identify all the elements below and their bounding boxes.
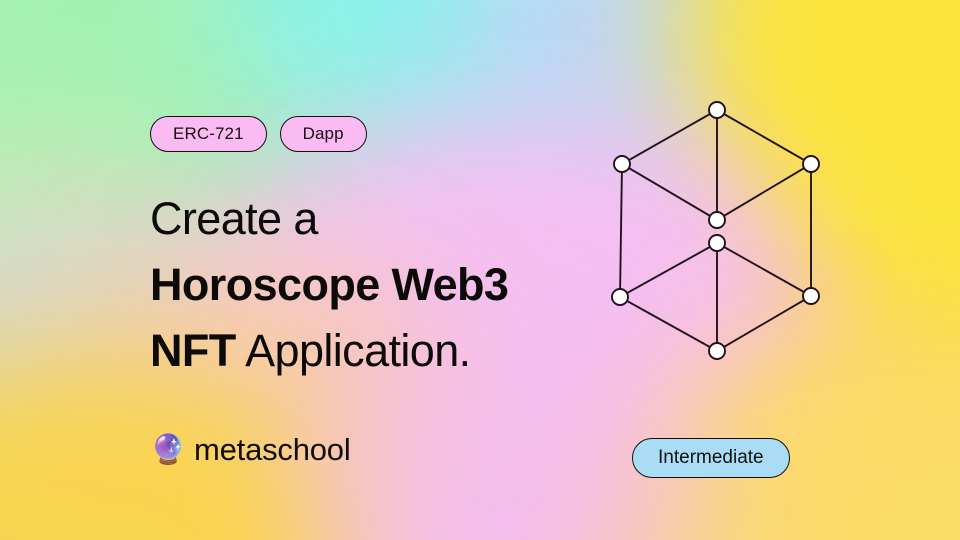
cube-edge (620, 164, 622, 297)
cube-node-center-lower (709, 235, 725, 251)
cube-node-top (709, 102, 725, 118)
cube-edge (620, 297, 717, 351)
status-badge-difficulty[interactable]: Intermediate (632, 438, 790, 478)
tag-label: Dapp (303, 124, 344, 144)
isometric-cube-icon (580, 80, 880, 380)
cube-edge (717, 110, 811, 164)
brand-name: metaschool (194, 432, 351, 468)
brand-logo[interactable]: 🔮 metaschool (150, 432, 351, 468)
cube-edge (717, 296, 811, 351)
tag-label: ERC-721 (173, 124, 244, 144)
cube-edge (620, 243, 717, 297)
cube-node-upper-left (614, 156, 630, 172)
cube-edge (622, 164, 717, 220)
cube-node-lower-left (612, 289, 628, 305)
cube-node-bottom (709, 343, 725, 359)
cube-node-center-upper (709, 212, 725, 228)
title-line-2-text: Horoscope Web3 (150, 259, 508, 310)
title-line-3-light: Application. (236, 325, 471, 376)
tag-erc-721[interactable]: ERC-721 (150, 116, 267, 152)
cube-node-upper-right (803, 156, 819, 172)
cube-edge (717, 243, 811, 296)
crystal-ball-icon: 🔮 (150, 434, 183, 467)
title-line-1-text: Create a (150, 193, 318, 244)
tag-dapp[interactable]: Dapp (280, 116, 367, 152)
cube-graphic (580, 80, 880, 380)
course-banner-card: ERC-721 Dapp Create a Horoscope Web3 NFT… (0, 0, 960, 540)
difficulty-label: Intermediate (658, 447, 764, 469)
tag-list: ERC-721 Dapp (150, 116, 367, 152)
cube-edge (622, 110, 717, 164)
cube-node-lower-right (803, 288, 819, 304)
cube-edge (717, 164, 811, 220)
title-line-3-bold: NFT (150, 325, 236, 376)
